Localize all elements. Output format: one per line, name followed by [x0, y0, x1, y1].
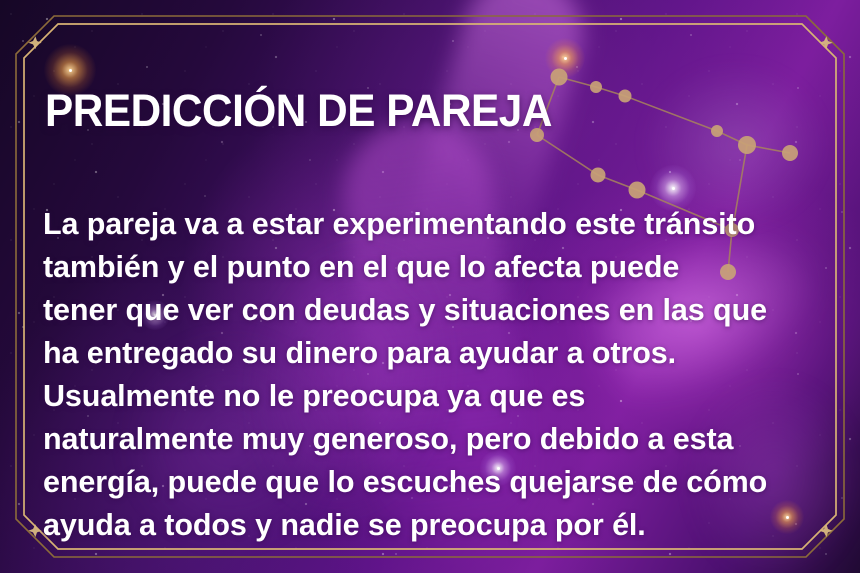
body-line: también y el punto en el que lo afecta p…: [43, 246, 833, 289]
body-line: naturalmente muy generoso, pero debido a…: [43, 418, 833, 461]
bright-star-icon: [545, 38, 585, 78]
body-line: ayuda a todos y nadie se preocupa por él…: [43, 504, 833, 547]
sparkle-star-icon: [819, 36, 832, 49]
sparkle-star-icon: [28, 36, 41, 49]
body-line: tener que ver con deudas y situaciones e…: [43, 289, 833, 332]
page-title: PREDICCIÓN DE PAREJA: [45, 88, 552, 133]
body-line: energía, puede que lo escuches quejarse …: [43, 461, 833, 504]
body-line: La pareja va a estar experimentando este…: [43, 203, 833, 246]
sparkle-star-icon: [28, 524, 41, 537]
body-line: Usualmente no le preocupa ya que es: [43, 375, 833, 418]
body-line: ha entregado su dinero para ayudar a otr…: [43, 332, 833, 375]
horoscope-prediction-card: PREDICCIÓN DE PAREJA La pareja va a esta…: [0, 0, 860, 573]
prediction-body-text: La pareja va a estar experimentando este…: [43, 203, 833, 547]
